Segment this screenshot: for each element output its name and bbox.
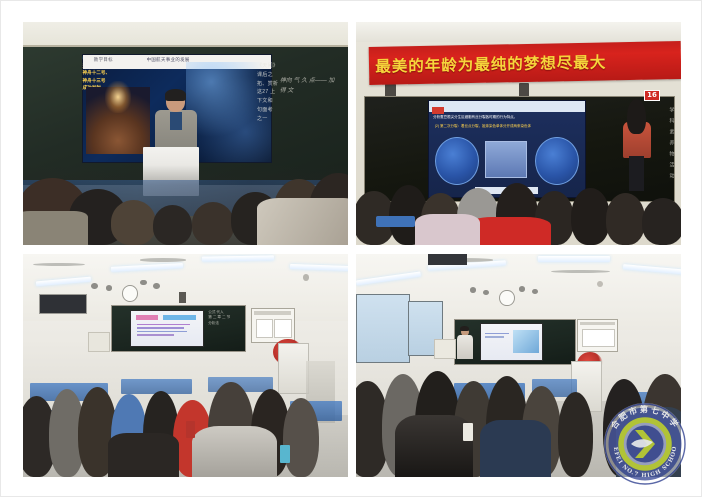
student-jacket [23, 211, 88, 245]
student-hoodie [192, 426, 277, 477]
student-head [558, 392, 594, 477]
water-bottle [463, 423, 473, 441]
student-head [606, 193, 645, 245]
student-crowd [23, 165, 348, 245]
student-crowd [356, 348, 681, 477]
slide-header-bar [136, 315, 159, 320]
teacher-shirt [170, 112, 182, 131]
slide-accent-box [432, 107, 444, 114]
student-pink-jacket [415, 214, 480, 245]
teacher-figure [155, 91, 197, 153]
wall-clock [122, 285, 138, 302]
wall-speaker [179, 292, 186, 303]
notice-sheet [256, 319, 273, 338]
notice-sheet [582, 329, 615, 347]
teacher-hair [460, 326, 469, 331]
chalk-writing-left: 《天问》 课后之 拓、赏析 这27 上 下文和 句面考 之一 [257, 62, 338, 151]
board-number-badge: 16 [644, 90, 660, 101]
photo-bottom-right[interactable] [356, 254, 681, 477]
banner-text: 最美的年龄为最纯的梦想尽最大 [375, 49, 681, 77]
slide-header-left: 教学目标 [94, 56, 113, 68]
slide-line-2: (2) 第二次分裂：着丝点分裂，姐妹染色单体分开成两条染色体 [435, 124, 579, 129]
student-crowd [356, 171, 681, 245]
wall-mounted-fan [140, 280, 147, 286]
photo-bottom-left[interactable]: 公式 代入 第 二 章 二 节 分析法 [23, 254, 348, 477]
water-bottle [186, 421, 196, 437]
collage-page: 神向 气 久 点—— 加 得 文 教学目标 中国航天事业的发展 中国空间站 天和… [0, 0, 702, 497]
ceiling-light [538, 256, 610, 261]
photo-top-right[interactable]: 最美的年龄为最纯的梦想尽最大 分析蚕豆根尖分生区细胞有丝分裂各时期的行为特点。 … [356, 22, 681, 245]
notice-header [254, 311, 291, 315]
photo-grid: 神向 气 久 点—— 加 得 文 教学目标 中国航天事业的发展 中国空间站 天和… [23, 22, 681, 477]
ceiling-fan [140, 258, 186, 261]
student-jacket [108, 433, 180, 477]
student-head [192, 202, 234, 245]
wall-mounted-fan [106, 285, 113, 291]
ceiling [356, 22, 681, 42]
slide-text-block [485, 336, 504, 337]
student-head [642, 198, 681, 245]
red-banner: 最美的年龄为最纯的梦想尽最大 [369, 41, 681, 85]
chalk-writing: 公式 代入 第 二 章 二 节 分析法 [208, 310, 241, 326]
notice-sheet [274, 319, 291, 338]
rocket-launch-glow [105, 81, 131, 113]
security-camera [303, 274, 310, 281]
projection-screen [130, 310, 204, 348]
slide-text-block [137, 324, 190, 325]
student-crowd [23, 361, 348, 477]
slide-text-block [137, 327, 184, 328]
student-puffer-jacket [395, 415, 473, 477]
student-jacket [480, 420, 552, 477]
chalk-writing-right: 学 科 素 养 物 活 动 [658, 107, 674, 178]
notice-header [580, 322, 614, 326]
student-head [153, 205, 192, 245]
wall-clock [499, 290, 515, 307]
student-head [283, 398, 319, 477]
wall-mounted-fan [153, 283, 160, 289]
slide-text-block [137, 334, 174, 335]
slide-text-block [137, 331, 187, 332]
photo-top-left[interactable]: 神向 气 久 点—— 加 得 文 教学目标 中国航天事业的发展 中国空间站 天和… [23, 22, 348, 245]
ceiling-fan [551, 270, 610, 273]
student-head [111, 200, 157, 245]
slide-header-right: 中国航天事业的发展 [147, 56, 190, 68]
student-jacket [616, 407, 681, 477]
slide-header-bar [429, 101, 585, 112]
wall-mounted-fan [519, 286, 526, 292]
wall-top [23, 22, 348, 47]
water-bottle [280, 445, 290, 464]
notice-board [251, 308, 295, 343]
wall-poster [88, 332, 110, 352]
wall-mounted-fan [91, 283, 98, 289]
teacher-hair [165, 89, 186, 100]
student-jacket [257, 198, 348, 245]
student-head [571, 188, 610, 245]
wall-ac-unit [428, 254, 467, 265]
slide-text-block [485, 333, 508, 334]
slide-line-1: 分析蚕豆根尖分生区细胞有丝分裂各时期的行为特点。 [433, 115, 577, 120]
desk-chair [376, 216, 415, 228]
slide-header-title [163, 315, 196, 320]
teacher-hair [627, 99, 646, 135]
wall-ac-unit [39, 294, 87, 314]
